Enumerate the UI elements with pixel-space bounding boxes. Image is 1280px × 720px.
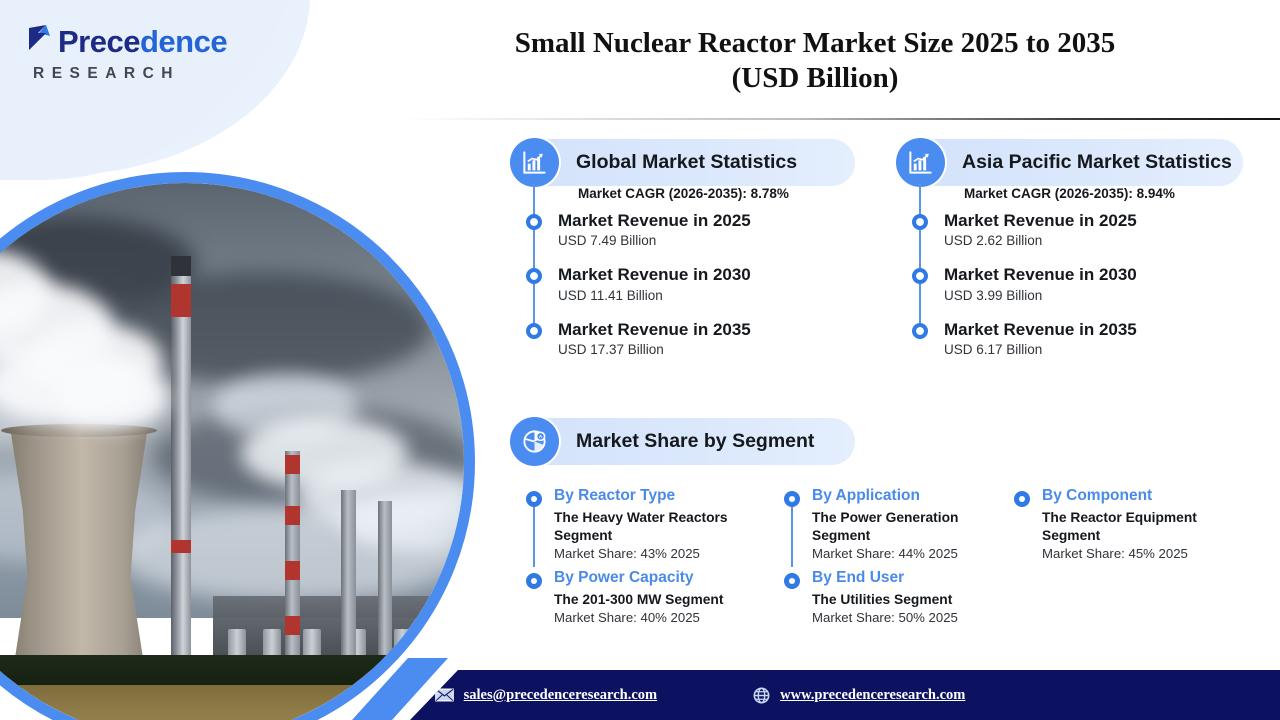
title-divider [402,118,1280,120]
footer-website-link[interactable]: www.precedenceresearch.com [753,687,965,704]
revenue-label: Market Revenue in 2025 [558,210,860,231]
segment-name: The Reactor Equipment Segment [1042,509,1252,546]
apac-timeline: Market Revenue in 2025 USD 2.62 Billion … [896,210,1246,357]
revenue-label: Market Revenue in 2025 [944,210,1246,231]
segment-by-end-user: By End User The Utilities Segment Market… [768,569,998,625]
page-title: Small Nuclear Reactor Market Size 2025 t… [420,26,1210,97]
revenue-label: Market Revenue in 2035 [944,319,1246,340]
segment-category: By Component [1042,487,1252,506]
segment-share: Market Share: 40% 2025 [554,610,762,625]
bullet-dot-icon [784,573,800,589]
precedence-arrow-logo-icon [26,24,56,58]
segment-by-power-capacity: By Power Capacity The 201-300 MW Segment… [510,569,768,625]
bullet-dot-icon [526,268,542,284]
main-chimney [171,256,191,669]
revenue-value: USD 11.41 Billion [558,288,860,303]
svg-text:A: A [539,434,543,440]
bullet-dot-icon [526,323,542,339]
apac-cagr: Market CAGR (2026-2035): 8.94% [964,186,1246,201]
segment-panel-title: Market Share by Segment [576,430,814,453]
smokestack [341,490,356,663]
list-item: Market Revenue in 2025 USD 7.49 Billion [510,210,860,248]
asia-pacific-market-statistics-header: Asia Pacific Market Statistics [896,139,1243,186]
segment-name: The Heavy Water Reactors Segment [554,509,762,546]
bar-chart-growth-icon [510,138,559,187]
infographic-page: Precedence RESEARCH Small Nuclear Reacto… [0,0,1280,720]
revenue-label: Market Revenue in 2030 [558,264,860,285]
list-item: Market Revenue in 2030 USD 11.41 Billion [510,264,860,302]
market-share-by-segment-header: A Market Share by Segment [510,418,855,465]
segment-grid: By Reactor Type The Heavy Water Reactors… [510,487,1258,625]
pie-chart-icon: A [510,417,559,466]
bullet-dot-icon [912,214,928,230]
revenue-value: USD 17.37 Billion [558,342,860,357]
list-item: Market Revenue in 2035 USD 17.37 Billion [510,319,860,357]
logo-subtext: RESEARCH [33,65,180,83]
segment-category: By Reactor Type [554,487,762,506]
list-item: Market Revenue in 2025 USD 2.62 Billion [896,210,1246,248]
revenue-value: USD 6.17 Billion [944,342,1246,357]
apac-panel-title: Asia Pacific Market Statistics [962,151,1232,174]
logo-wordmark: Precedence [58,26,227,57]
segment-by-application: By Application The Power Generation Segm… [768,487,998,561]
smokestack [285,451,300,663]
revenue-value: USD 3.99 Billion [944,288,1246,303]
segment-grid-filler [998,569,1258,625]
connector-line [791,503,793,567]
brand-logo[interactable]: Precedence RESEARCH [26,24,227,83]
bullet-dot-icon [526,214,542,230]
bullet-dot-icon [526,573,542,589]
apac-statistics-list: Market CAGR (2026-2035): 8.94% Market Re… [896,186,1246,357]
bar-chart-growth-icon [896,138,945,187]
revenue-label: Market Revenue in 2030 [944,264,1246,285]
bullet-dot-icon [912,268,928,284]
segment-category: By End User [812,569,992,588]
revenue-value: USD 7.49 Billion [558,233,860,248]
bullet-dot-icon [526,491,542,507]
footer-website-text: www.precedenceresearch.com [780,687,965,704]
global-market-statistics-header: Global Market Statistics [510,139,855,186]
global-panel-title: Global Market Statistics [576,151,797,174]
hero-image [0,183,464,720]
segment-share: Market Share: 50% 2025 [812,610,992,625]
footer-email-text: sales@precedenceresearch.com [464,687,657,704]
bullet-dot-icon [1014,491,1030,507]
revenue-value: USD 2.62 Billion [944,233,1246,248]
global-statistics-list: Market CAGR (2026-2035): 8.78% Market Re… [510,186,860,357]
steam-plume [57,367,169,428]
segment-category: By Application [812,487,992,506]
segment-share: Market Share: 43% 2025 [554,546,762,561]
footer-email-link[interactable]: sales@precedenceresearch.com [435,687,657,704]
segment-name: The Power Generation Segment [812,509,992,546]
bullet-dot-icon [912,323,928,339]
globe-icon [753,687,770,704]
segment-by-reactor-type: By Reactor Type The Heavy Water Reactors… [510,487,768,561]
segment-category: By Power Capacity [554,569,762,588]
segment-share: Market Share: 44% 2025 [812,546,992,561]
revenue-label: Market Revenue in 2035 [558,319,860,340]
connector-line [533,503,535,567]
global-timeline: Market Revenue in 2025 USD 7.49 Billion … [510,210,860,357]
page-title-line1: Small Nuclear Reactor Market Size 2025 t… [420,26,1210,61]
power-plant-illustration [0,183,464,720]
segment-share: Market Share: 45% 2025 [1042,546,1252,561]
segment-name: The 201-300 MW Segment [554,591,762,609]
logo-row: Precedence [26,24,227,58]
page-title-line2: (USD Billion) [420,61,1210,96]
segment-name: The Utilities Segment [812,591,992,609]
global-cagr: Market CAGR (2026-2035): 8.78% [578,186,860,201]
segment-by-component: By Component The Reactor Equipment Segme… [998,487,1258,561]
bullet-dot-icon [784,491,800,507]
smokestack [378,501,393,663]
list-item: Market Revenue in 2030 USD 3.99 Billion [896,264,1246,302]
list-item: Market Revenue in 2035 USD 6.17 Billion [896,319,1246,357]
